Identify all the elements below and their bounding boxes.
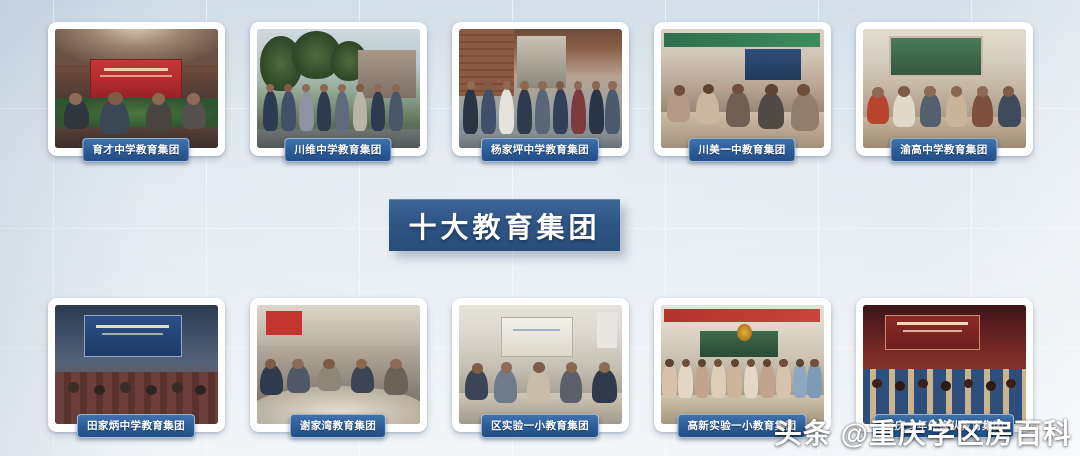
card-bottom-3[interactable]: 区实验一小教育集团 <box>452 298 629 432</box>
card-bottom-1[interactable]: 田家炳中学教育集团 <box>48 298 225 432</box>
watermark-text: 头条 @重庆学区房百科 <box>774 412 1072 452</box>
card-top-5[interactable]: 渝高中学教育集团 <box>856 22 1033 156</box>
page-title-banner: 十大教育集团 <box>389 199 620 251</box>
card-caption: 谢家湾教育集团 <box>290 414 386 438</box>
card-top-2[interactable]: 川维中学教育集团 <box>250 22 427 156</box>
card-caption: 育才中学教育集团 <box>82 138 189 162</box>
card-caption: 田家炳中学教育集团 <box>77 414 195 438</box>
photo-top-4 <box>661 29 824 148</box>
card-top-3[interactable]: 杨家坪中学教育集团 <box>452 22 629 156</box>
photo-bottom-5 <box>863 305 1026 424</box>
top-card-row: 育才中学教育集团 <box>0 22 1080 156</box>
photo-top-3 <box>459 29 622 148</box>
scene-round-table-discussion <box>257 305 420 424</box>
scene-stage-uniformed-rows <box>863 305 1026 424</box>
card-caption: 区实验一小教育集团 <box>481 414 599 438</box>
card-caption: 杨家坪中学教育集团 <box>481 138 599 162</box>
photo-bottom-2 <box>257 305 420 424</box>
photo-top-5 <box>863 29 1026 148</box>
scene-auditorium-blue-screen <box>55 305 218 424</box>
scene-conference-hall-red-screen <box>55 29 218 148</box>
card-caption: 川维中学教育集团 <box>284 138 391 162</box>
scene-classroom-activity-green-board <box>863 29 1026 148</box>
card-top-1[interactable]: 育才中学教育集团 <box>48 22 225 156</box>
photo-top-1 <box>55 29 218 148</box>
scene-group-photo-red-banner <box>661 305 824 424</box>
photo-bottom-1 <box>55 305 218 424</box>
photo-bottom-4 <box>661 305 824 424</box>
card-top-4[interactable]: 川美一中教育集团 <box>654 22 831 156</box>
scene-outdoor-group-trees <box>257 29 420 148</box>
card-caption: 渝高中学教育集团 <box>890 138 997 162</box>
photo-top-2 <box>257 29 420 148</box>
card-bottom-2[interactable]: 谢家湾教育集团 <box>250 298 427 432</box>
card-caption: 川美一中教育集团 <box>688 138 795 162</box>
scene-indoor-group-brick-wall <box>459 29 622 148</box>
page-title: 十大教育集团 <box>408 206 600 246</box>
photo-bottom-3 <box>459 305 622 424</box>
scene-classroom-projector-screen <box>459 305 622 424</box>
scene-meeting-room-seated <box>661 29 824 148</box>
